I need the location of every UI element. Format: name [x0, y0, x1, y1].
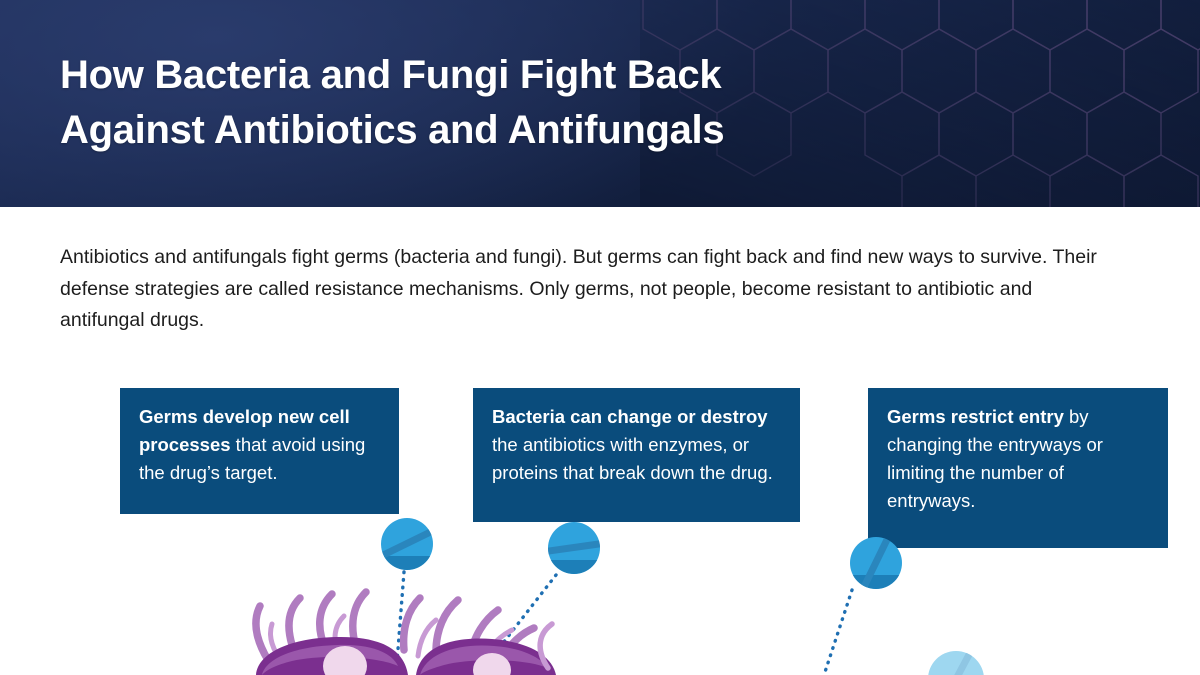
page-title: How Bacteria and Fungi Fight Back Agains…: [60, 48, 1060, 158]
page-title-line-1: How Bacteria and Fungi Fight Back: [60, 48, 1060, 103]
connector-line-2: [478, 575, 556, 675]
connector-line-1: [396, 572, 404, 675]
germ-flagellum-far-right: [540, 624, 552, 668]
pill-icon-2-rim: [548, 560, 600, 574]
germ-organelle-2: [473, 653, 511, 675]
callout-3-bold-lead: Germs restrict entry: [887, 406, 1064, 427]
connector-lines: [396, 572, 852, 675]
germ-flagella: [256, 592, 534, 662]
infographic-page: How Bacteria and Fungi Fight Back Agains…: [0, 0, 1200, 675]
pill-icon-1-rim: [381, 556, 433, 570]
pill-icon-1: [381, 518, 433, 570]
callout-2-rest: the antibiotics with enzymes, or protein…: [492, 434, 773, 483]
germ-flagella-secondary: [271, 616, 513, 664]
callout-cell-processes: Germs develop new cell processes that av…: [120, 388, 399, 514]
intro-paragraph: Antibiotics and antifungals fight germs …: [60, 242, 1115, 337]
pill-icon-4-body: [928, 651, 984, 675]
germ-body-left: [256, 637, 408, 675]
pill-icon-3-rim: [850, 575, 902, 589]
pill-icon-3-body: [850, 537, 902, 589]
pill-icon-2: [548, 522, 600, 574]
germ-organelle-1: [323, 646, 367, 675]
callout-restrict-entry: Germs restrict entry by changing the ent…: [868, 388, 1168, 548]
germ-cell-illustration: [256, 592, 556, 675]
page-title-line-2: Against Antibiotics and Antifungals: [60, 103, 1060, 158]
header-banner: How Bacteria and Fungi Fight Back Agains…: [0, 0, 1200, 207]
pill-icon-3: [850, 537, 902, 589]
pill-icon-1-body: [381, 518, 433, 570]
pill-icon-2-body: [548, 522, 600, 574]
germ-body-right: [416, 639, 556, 675]
pill-icon-4-faded: [928, 651, 984, 675]
germ-body-highlight-left: [262, 645, 398, 675]
germ-body-highlight-right: [420, 646, 548, 675]
callout-change-destroy: Bacteria can change or destroy the antib…: [473, 388, 800, 522]
pill-icon-2-score-line: [548, 539, 600, 555]
connector-line-3: [824, 590, 852, 675]
callout-2-bold-lead: Bacteria can change or destroy: [492, 406, 768, 427]
pill-icon-4-score-line: [936, 651, 977, 675]
